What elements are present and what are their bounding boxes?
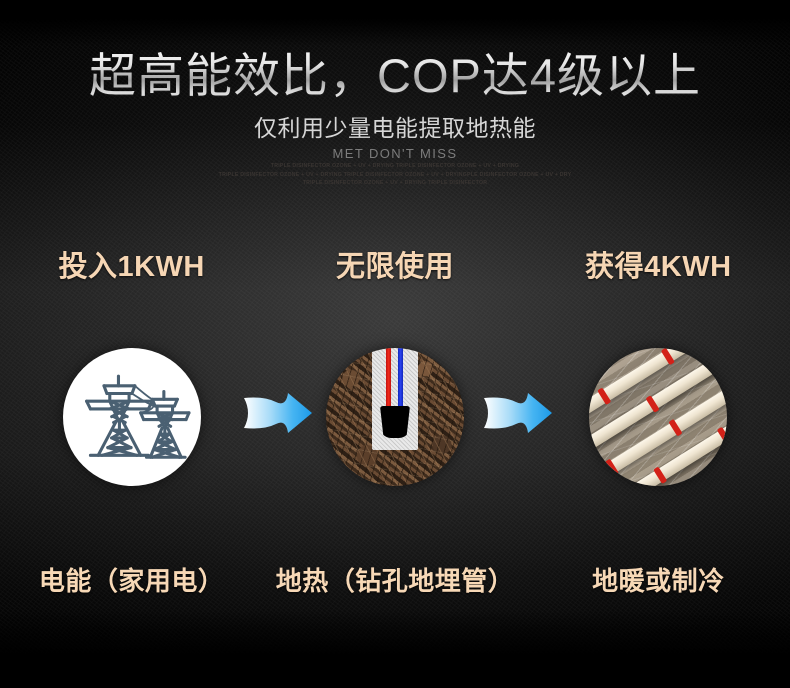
page-title: 超高能效比，COP达4级以上 <box>0 48 790 104</box>
step-label-row: 投入1KWH 无限使用 获得4KWH <box>0 248 790 286</box>
microprint-block: TRIPLE DISINFECTOR OZONE + UV + DRYING T… <box>0 162 790 188</box>
microprint-line-2: TRIPLE DISINFECTOR OZONE + UV + DRYING T… <box>0 171 790 180</box>
step-1-image-cell <box>0 347 263 487</box>
step-1-bottom-label: 电能（家用电） <box>0 563 263 599</box>
promo-poster: 超高能效比，COP达4级以上 仅利用少量电能提取地热能 MET DON'T MI… <box>0 0 790 688</box>
u-bend-fitting <box>380 406 410 438</box>
arrow-right-1 <box>242 382 314 444</box>
geothermal-borehole-image <box>326 348 464 486</box>
step-3-top-label: 获得4KWH <box>527 248 790 286</box>
arrow-right-2 <box>482 382 554 444</box>
arrow-right-icon <box>242 382 314 444</box>
return-pipe-blue <box>398 348 403 414</box>
step-3-image-cell <box>527 347 790 487</box>
microprint-line-1: TRIPLE DISINFECTOR OZONE + UV + DRYING T… <box>0 162 790 171</box>
underfloor-heating-pipes-image <box>589 348 727 486</box>
pylon-icon <box>75 367 191 466</box>
step-caption-row: 电能（家用电） 地热（钻孔地埋管） 地暖或制冷 <box>0 563 790 599</box>
step-2-top-label: 无限使用 <box>263 248 526 286</box>
step-image-row <box>0 347 790 487</box>
page-subtitle: 仅利用少量电能提取地热能 <box>0 114 790 142</box>
step-1-top-label: 投入1KWH <box>0 248 263 286</box>
borehole-shaft <box>372 348 418 450</box>
supply-pipe-red <box>386 348 391 414</box>
power-transmission-towers-image <box>63 348 201 486</box>
step-2-bottom-label: 地热（钻孔地埋管） <box>263 563 526 599</box>
arrow-right-icon <box>482 382 554 444</box>
page-subtitle-english: MET DON'T MISS <box>0 146 790 162</box>
step-3-bottom-label: 地暖或制冷 <box>527 563 790 599</box>
microprint-line-3: TRIPLE DISINFECTOR OZONE + UV + DRYING T… <box>0 179 790 188</box>
